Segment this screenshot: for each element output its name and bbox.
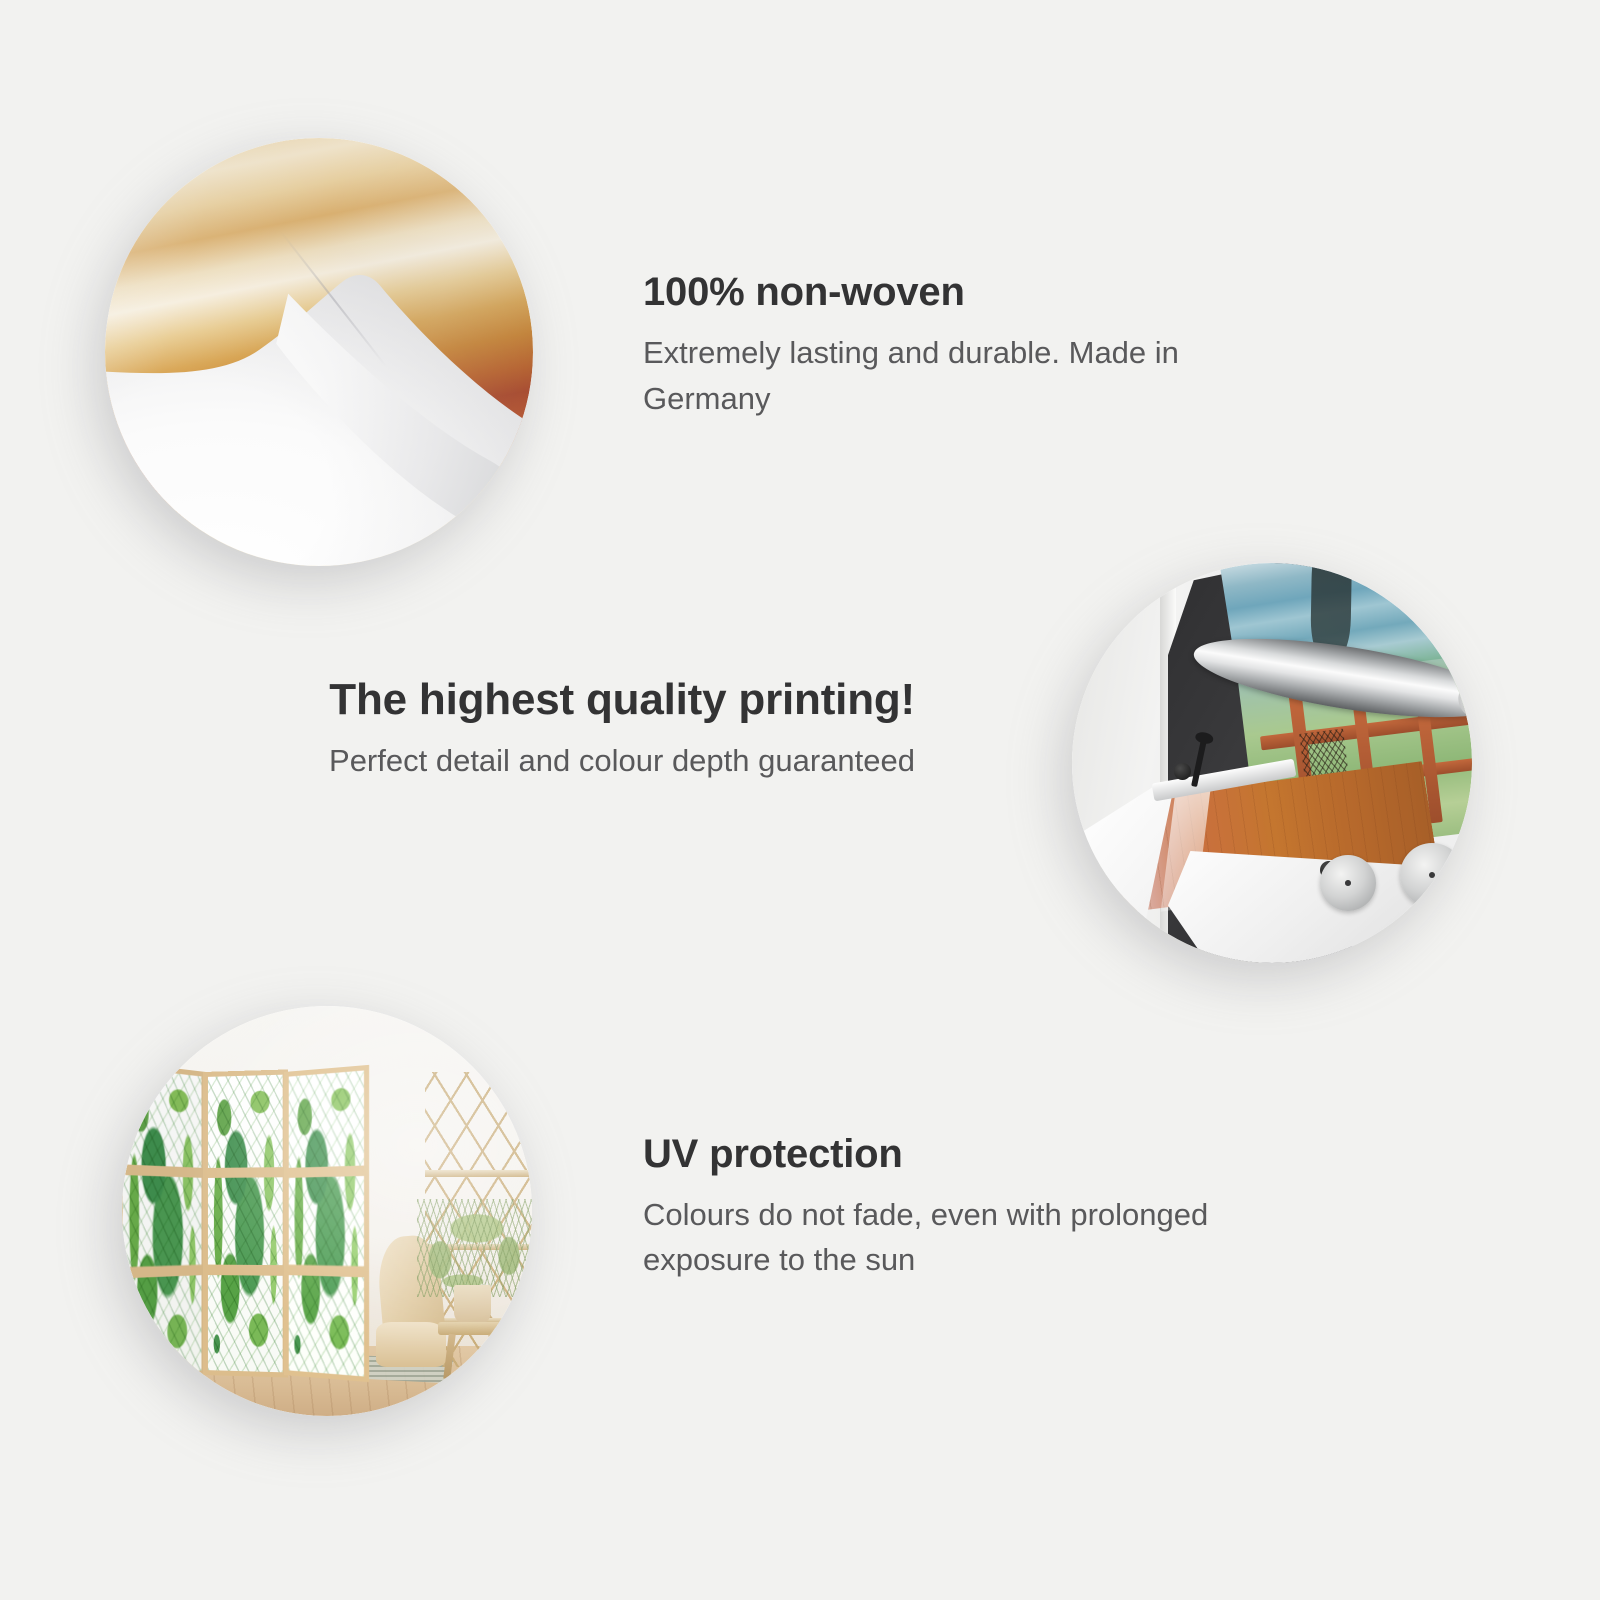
feature-title-non-woven: 100% non-woven bbox=[643, 266, 1303, 318]
feature-image-printing bbox=[1072, 563, 1472, 963]
divider-panel-3 bbox=[284, 1064, 370, 1382]
feature-text-non-woven: 100% non-woven Extremely lasting and dur… bbox=[643, 266, 1303, 422]
feature-text-uv-protection: UV protection Colours do not fade, even … bbox=[643, 1128, 1263, 1282]
divider-panel-2 bbox=[203, 1069, 287, 1377]
lattice-shelf-1 bbox=[425, 1170, 532, 1177]
wallpaper-peel-photo bbox=[105, 138, 533, 566]
folding-room-divider bbox=[122, 1072, 393, 1375]
feature-image-uv-protection bbox=[122, 1006, 532, 1416]
press-wheel-2 bbox=[1400, 843, 1464, 907]
feature-description-non-woven: Extremely lasting and durable. Made in G… bbox=[643, 330, 1303, 422]
feature-description-printing: Perfect detail and colour depth guarante… bbox=[255, 738, 915, 783]
press-knob-1 bbox=[1174, 763, 1191, 780]
divider-panel-1 bbox=[122, 1061, 206, 1385]
press-wheel-1 bbox=[1320, 855, 1376, 911]
potted-palm-leaves bbox=[417, 1199, 532, 1297]
plant-pot bbox=[454, 1285, 491, 1324]
feature-title-printing: The highest quality printing! bbox=[255, 672, 915, 728]
infographic-canvas: 100% non-woven Extremely lasting and dur… bbox=[0, 0, 1600, 1600]
printing-press-photo bbox=[1072, 563, 1472, 963]
room-divider-photo bbox=[122, 1006, 532, 1416]
feature-image-non-woven bbox=[105, 138, 533, 566]
feature-title-uv-protection: UV protection bbox=[643, 1128, 1263, 1180]
feature-description-uv-protection: Colours do not fade, even with prolonged… bbox=[643, 1192, 1263, 1282]
feature-text-printing: The highest quality printing! Perfect de… bbox=[255, 672, 915, 783]
